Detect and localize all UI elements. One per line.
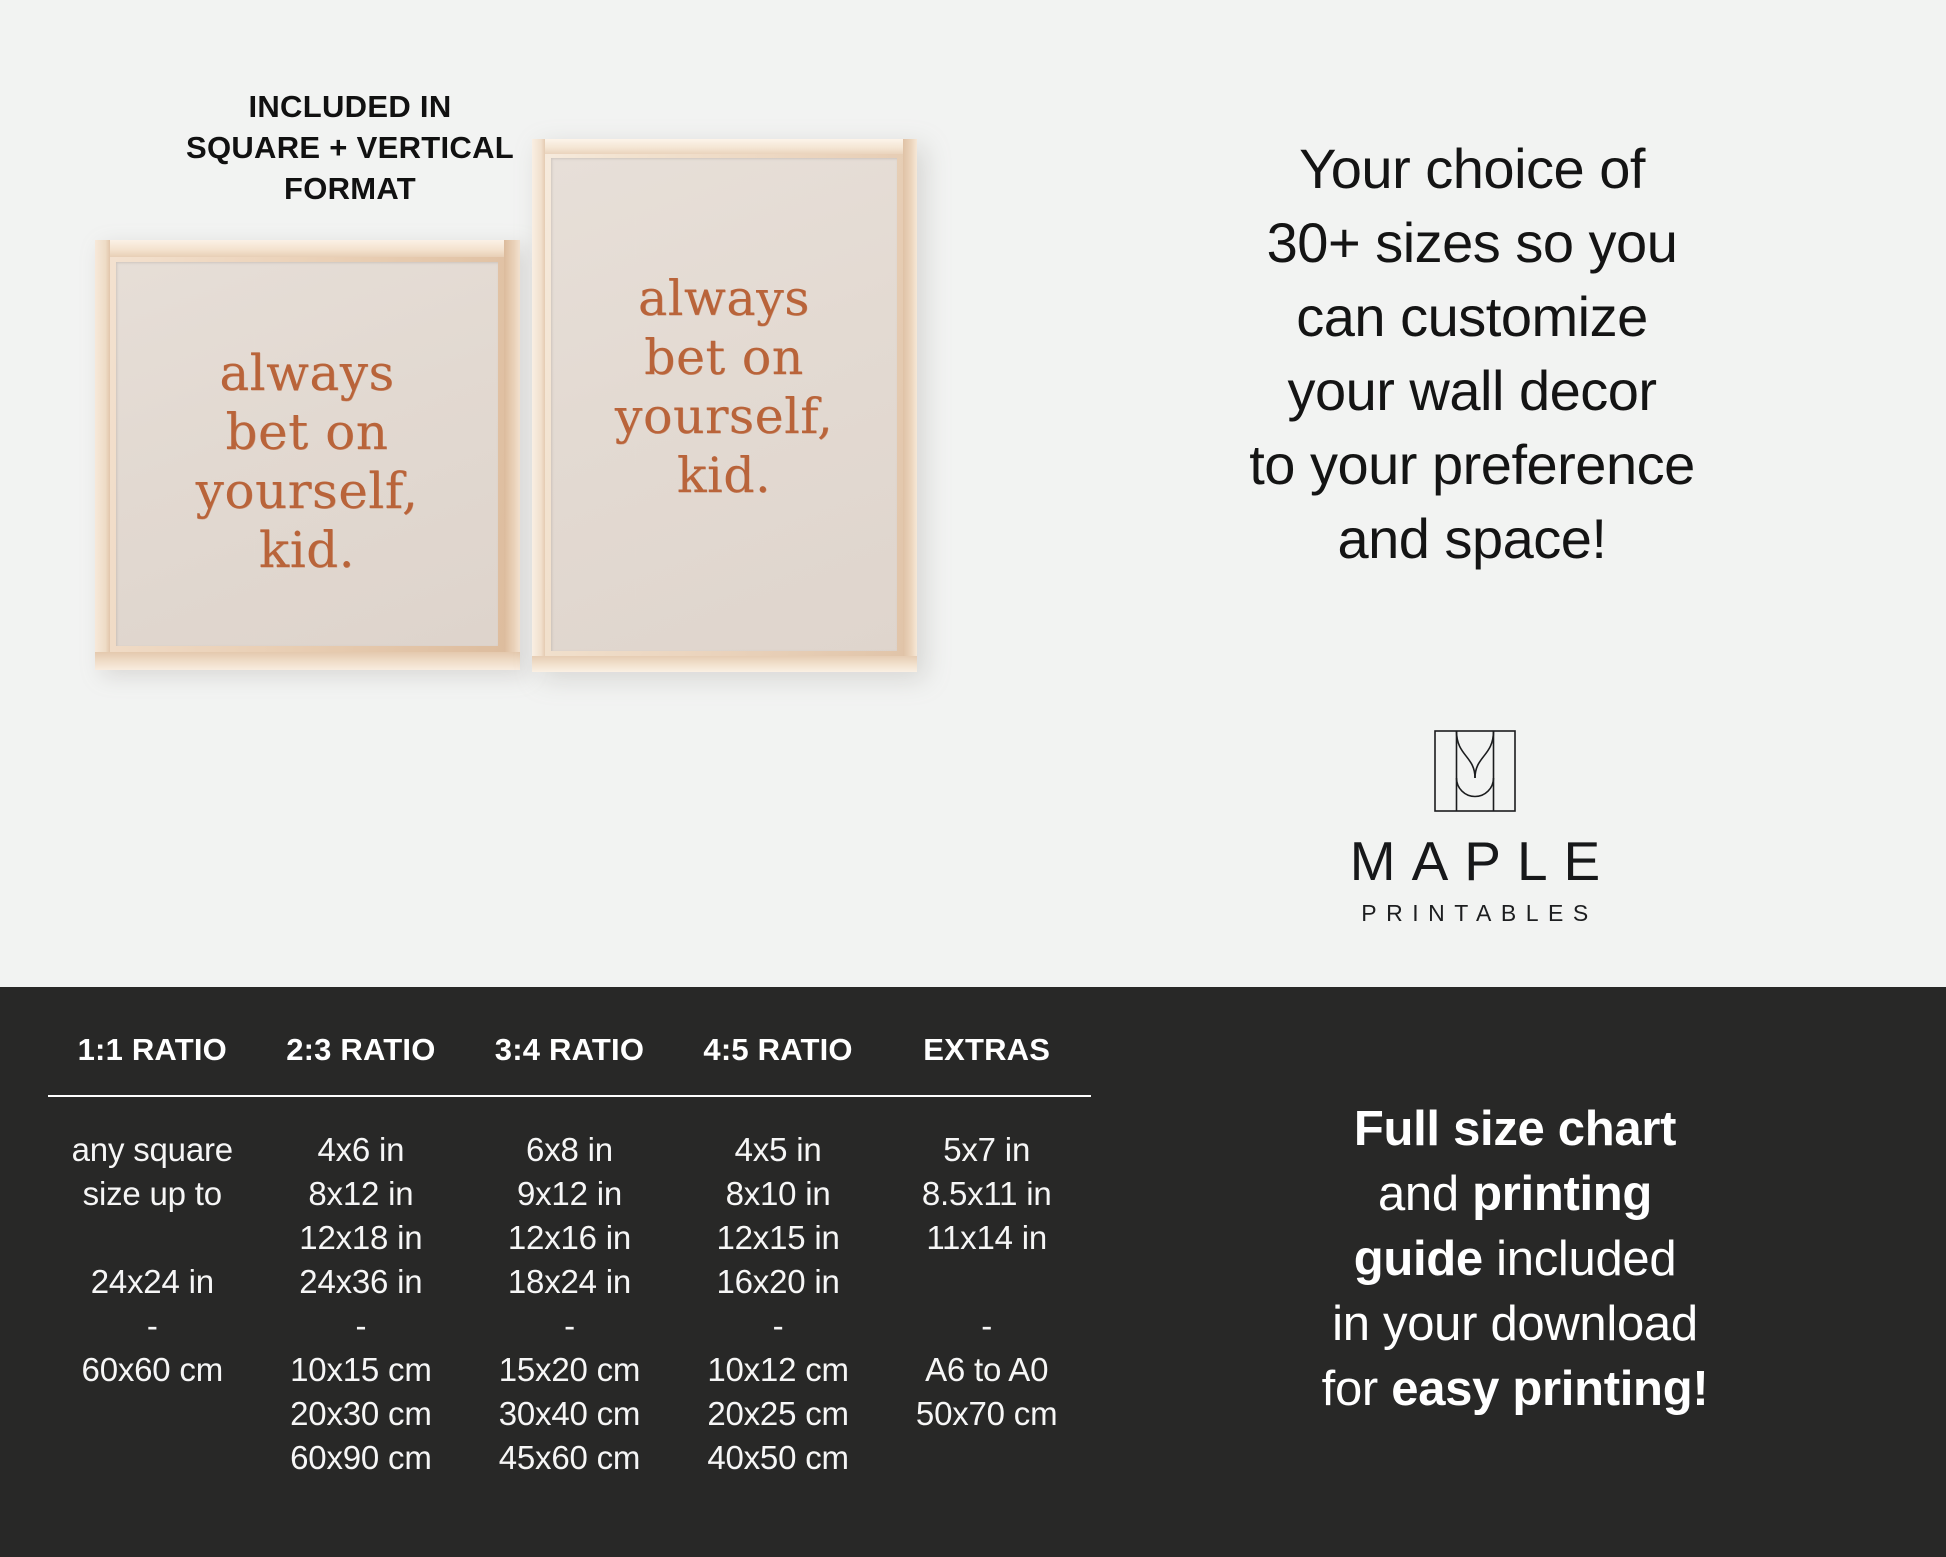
size-cell: 11x14 in — [882, 1216, 1091, 1260]
printing-copy-line-1: Full size chart — [1120, 1097, 1910, 1162]
size-cell: 20x30 cm — [257, 1392, 466, 1436]
printing-copy-for: for — [1322, 1362, 1392, 1416]
size-cell: 20x25 cm — [674, 1392, 883, 1436]
size-cell: 8.5x11 in — [882, 1172, 1091, 1216]
vertical-frame-bottom-bevel — [532, 656, 917, 672]
size-cell: A6 to A0 — [882, 1348, 1091, 1392]
size-cell: 6x8 in — [465, 1128, 674, 1172]
square-frame-bottom-bevel — [95, 652, 520, 670]
vertical-poster-frame: always bet on yourself, kid. — [532, 139, 917, 672]
size-cell-spacer — [48, 1392, 257, 1436]
size-chart-table: 1:1 RATIO 2:3 RATIO 3:4 RATIO 4:5 RATIO … — [48, 1032, 1091, 1480]
choice-of-sizes-copy: Your choice of 30+ sizes so you can cust… — [1072, 132, 1872, 576]
size-column-3-4-ratio: 6x8 in9x12 in12x16 in18x24 in-15x20 cm30… — [465, 1128, 674, 1480]
size-cell: 50x70 cm — [882, 1392, 1091, 1436]
size-cell: size up to — [48, 1172, 257, 1216]
column-header-2-3-ratio: 2:3 RATIO — [257, 1032, 466, 1068]
size-cell: 24x24 in — [48, 1260, 257, 1304]
size-cell: 24x36 in — [257, 1260, 466, 1304]
column-header-extras: EXTRAS — [882, 1032, 1091, 1068]
size-cell: 60x90 cm — [257, 1436, 466, 1480]
size-cell: 15x20 cm — [465, 1348, 674, 1392]
column-header-4-5-ratio: 4:5 RATIO — [674, 1032, 883, 1068]
vertical-frame-right-bevel — [903, 139, 917, 672]
maple-printables-logo: MAPLE PRINTABLES — [1100, 730, 1850, 927]
size-cell: - — [674, 1304, 883, 1348]
choice-copy-line-1: Your choice of — [1072, 132, 1872, 206]
size-cell: 12x16 in — [465, 1216, 674, 1260]
printing-copy-bold-easy-printing: easy printing! — [1391, 1362, 1708, 1416]
printing-guide-copy: Full size chart and printing guide inclu… — [1120, 1097, 1910, 1422]
included-heading-line-1: INCLUDED IN — [128, 86, 572, 127]
size-column-1-1-ratio: any squaresize up to 24x24 in-60x60 cm — [48, 1128, 257, 1480]
size-chart-body: any squaresize up to 24x24 in-60x60 cm 4… — [48, 1128, 1091, 1480]
size-column-2-3-ratio: 4x6 in8x12 in12x18 in24x36 in-10x15 cm20… — [257, 1128, 466, 1480]
size-cell: 10x15 cm — [257, 1348, 466, 1392]
size-cell: 45x60 cm — [465, 1436, 674, 1480]
size-cell: 60x60 cm — [48, 1348, 257, 1392]
printing-copy-bold-guide: guide — [1354, 1232, 1483, 1286]
maple-wordmark: MAPLE — [1334, 829, 1616, 893]
size-cell-spacer — [48, 1216, 257, 1260]
size-cell: - — [465, 1304, 674, 1348]
printing-copy-line-3: guide included — [1120, 1227, 1910, 1292]
vertical-frame-top-bevel — [532, 139, 917, 154]
size-cell: - — [257, 1304, 466, 1348]
size-cell: any square — [48, 1128, 257, 1172]
printing-copy-and: and — [1378, 1167, 1472, 1221]
mockup-canvas: INCLUDED IN SQUARE + VERTICAL FORMAT alw… — [0, 0, 1946, 1557]
included-format-heading: INCLUDED IN SQUARE + VERTICAL FORMAT — [128, 86, 572, 209]
column-header-3-4-ratio: 3:4 RATIO — [465, 1032, 674, 1068]
size-cell-spacer — [882, 1436, 1091, 1480]
choice-copy-line-5: to your preference — [1072, 428, 1872, 502]
size-cell: 9x12 in — [465, 1172, 674, 1216]
size-cell-spacer — [882, 1260, 1091, 1304]
choice-copy-line-3: can customize — [1072, 280, 1872, 354]
size-cell: - — [48, 1304, 257, 1348]
size-chart-header-rule — [48, 1095, 1091, 1097]
vertical-frame-left-bevel — [532, 139, 545, 672]
included-heading-line-2: SQUARE + VERTICAL — [128, 127, 572, 168]
square-poster-mat: always bet on yourself, kid. — [116, 262, 498, 646]
printing-copy-line-5: for easy printing! — [1120, 1357, 1910, 1422]
printing-copy-line-2: and printing — [1120, 1162, 1910, 1227]
printing-copy-bold-printing: printing — [1472, 1167, 1652, 1221]
size-cell: 4x5 in — [674, 1128, 883, 1172]
square-poster-quote: always bet on yourself, kid. — [196, 344, 419, 580]
size-cell: 40x50 cm — [674, 1436, 883, 1480]
size-cell-spacer — [48, 1436, 257, 1480]
size-cell: 4x6 in — [257, 1128, 466, 1172]
square-frame-right-bevel — [504, 240, 520, 670]
vertical-poster-quote: always bet on yourself, kid. — [615, 269, 833, 505]
bottom-dark-section: 1:1 RATIO 2:3 RATIO 3:4 RATIO 4:5 RATIO … — [0, 987, 1946, 1557]
maple-monogram-icon — [1434, 730, 1516, 812]
vertical-poster-mat: always bet on yourself, kid. — [551, 158, 897, 651]
column-header-1-1-ratio: 1:1 RATIO — [48, 1032, 257, 1068]
size-cell: 18x24 in — [465, 1260, 674, 1304]
size-column-4-5-ratio: 4x5 in8x10 in12x15 in16x20 in-10x12 cm20… — [674, 1128, 883, 1480]
size-cell: - — [882, 1304, 1091, 1348]
size-cell: 12x15 in — [674, 1216, 883, 1260]
top-light-section: INCLUDED IN SQUARE + VERTICAL FORMAT alw… — [0, 0, 1946, 987]
size-chart-header-row: 1:1 RATIO 2:3 RATIO 3:4 RATIO 4:5 RATIO … — [48, 1032, 1091, 1068]
square-poster-artwork: always bet on yourself, kid. — [116, 262, 498, 646]
choice-copy-line-4: your wall decor — [1072, 354, 1872, 428]
printing-copy-line-4: in your download — [1120, 1292, 1910, 1357]
square-frame-top-bevel — [95, 240, 520, 257]
size-cell: 10x12 cm — [674, 1348, 883, 1392]
maple-subtitle: PRINTABLES — [1352, 900, 1597, 927]
choice-copy-line-6: and space! — [1072, 502, 1872, 576]
square-frame-left-bevel — [95, 240, 110, 670]
size-cell: 8x12 in — [257, 1172, 466, 1216]
size-cell: 16x20 in — [674, 1260, 883, 1304]
size-cell: 30x40 cm — [465, 1392, 674, 1436]
size-column-extras: 5x7 in8.5x11 in11x14 in -A6 to A050x70 c… — [882, 1128, 1091, 1480]
choice-copy-line-2: 30+ sizes so you — [1072, 206, 1872, 280]
size-cell: 8x10 in — [674, 1172, 883, 1216]
printing-copy-bold-full-size-chart: Full size chart — [1354, 1102, 1676, 1156]
vertical-poster-artwork: always bet on yourself, kid. — [551, 158, 897, 651]
square-poster-frame: always bet on yourself, kid. — [95, 240, 520, 670]
included-heading-line-3: FORMAT — [128, 168, 572, 209]
printing-copy-included: included — [1483, 1232, 1676, 1286]
size-cell: 12x18 in — [257, 1216, 466, 1260]
size-cell: 5x7 in — [882, 1128, 1091, 1172]
